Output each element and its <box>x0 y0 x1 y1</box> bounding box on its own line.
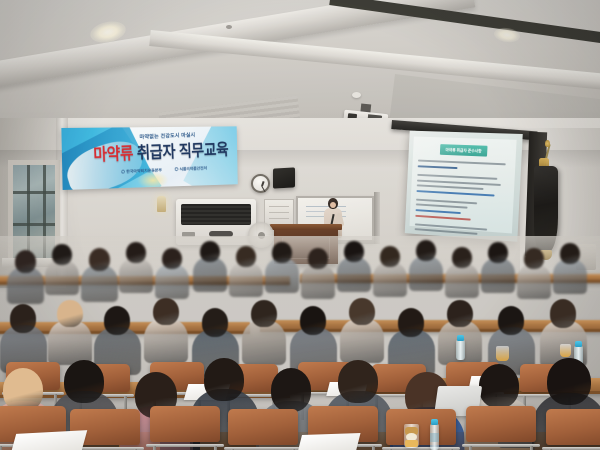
audience-head <box>200 241 220 262</box>
audience-head <box>202 308 229 337</box>
bottle-cap <box>575 341 582 347</box>
audience-head <box>271 368 312 412</box>
bottle-cap <box>431 419 438 425</box>
chair-rail <box>462 444 540 447</box>
audience-head <box>89 248 110 271</box>
audience-head <box>416 240 436 261</box>
ceiling-soffit-right <box>149 30 600 96</box>
audience-chair <box>228 409 298 445</box>
audience-head <box>57 300 82 327</box>
slide-title-bar: 마약류 취급자 준수사항 <box>440 144 488 157</box>
slide-body-text <box>415 160 510 229</box>
audience-head <box>236 246 256 267</box>
audience-head <box>52 244 72 265</box>
audience-chair <box>466 406 536 442</box>
audience-head <box>162 248 182 269</box>
chair-leg <box>214 446 217 450</box>
audience-head <box>64 360 103 403</box>
wall-clock <box>251 174 270 193</box>
projection-screen: 마약류 취급자 준수사항 <box>405 131 523 242</box>
smoke-detector-icon <box>352 92 361 98</box>
water-bottle <box>430 424 439 450</box>
audience-head <box>308 248 328 269</box>
slide-text-line <box>416 190 494 196</box>
audience-head <box>524 248 544 269</box>
audience-head <box>300 306 327 335</box>
audience-chair <box>546 409 600 445</box>
clock-minute-hand <box>261 186 266 193</box>
chair-leg <box>372 446 375 450</box>
snack-cup <box>404 424 419 448</box>
presenter-face <box>330 202 336 208</box>
audience-head <box>380 246 400 267</box>
audience-head <box>547 358 590 405</box>
smoke-detector-icon <box>226 25 232 29</box>
bottle-label <box>430 433 439 442</box>
wall-speaker <box>273 167 295 188</box>
water-bottle <box>456 340 465 360</box>
bottle-cap <box>457 335 464 341</box>
chair-leg <box>530 446 533 450</box>
banner-title-navy: 취급자 직무교육 <box>137 141 229 163</box>
audience-head <box>498 306 525 335</box>
handout-paper <box>297 433 360 450</box>
audience-head <box>560 243 580 264</box>
audience-head <box>153 298 178 325</box>
audience-head <box>344 241 364 262</box>
audience-head <box>550 299 577 328</box>
handout-paper <box>11 430 88 450</box>
audience-chair <box>150 406 220 442</box>
audience-head <box>251 300 276 327</box>
audience-head <box>452 247 472 268</box>
chair-rail <box>146 444 224 447</box>
ac-grille <box>181 204 251 225</box>
seminar-room-photo: 마약없는 건강도시 마실시 마약류 취급자 직무교육 ◎ 한국마약퇴치운동본부 … <box>0 0 600 450</box>
slide-text-line <box>416 204 468 209</box>
chair-leg <box>469 446 472 450</box>
audience-head <box>338 360 377 403</box>
slide-text-line <box>418 165 457 169</box>
audience-head <box>398 308 425 337</box>
slide-text-line <box>415 214 471 220</box>
audience-head <box>272 242 292 263</box>
banner-title-red: 마약류 <box>93 145 134 165</box>
audience-head <box>104 306 131 335</box>
audience-head <box>447 300 472 327</box>
audience-head <box>15 250 36 273</box>
audience-head <box>479 364 520 408</box>
window-mullion <box>13 223 55 226</box>
audience-head <box>126 242 146 263</box>
chair-leg <box>153 446 156 450</box>
drink-cup <box>560 344 571 357</box>
flag-finial-icon <box>545 140 550 147</box>
chair-leg <box>0 446 2 450</box>
audience-head <box>10 304 37 333</box>
slide-text-line <box>416 209 461 214</box>
audience-head <box>349 298 374 325</box>
slide-text-line <box>417 185 484 191</box>
slide-text-line <box>416 198 477 204</box>
slide-text-line <box>418 160 506 166</box>
slide-text-line <box>417 174 497 180</box>
lectern-top <box>270 224 342 230</box>
presentation-slide: 마약류 취급자 준수사항 <box>410 136 517 233</box>
seated-audience <box>0 236 600 450</box>
audience-head <box>488 242 508 263</box>
drink-cup <box>496 346 509 361</box>
snack-item <box>405 440 418 447</box>
wall-sconce-light <box>157 196 166 212</box>
event-banner: 마약없는 건강도시 마실시 마약류 취급자 직무교육 ◎ 한국마약퇴치운동본부 … <box>61 126 237 190</box>
audience-chair <box>386 409 456 445</box>
window-mullion <box>13 191 55 194</box>
audience-head <box>204 358 243 401</box>
